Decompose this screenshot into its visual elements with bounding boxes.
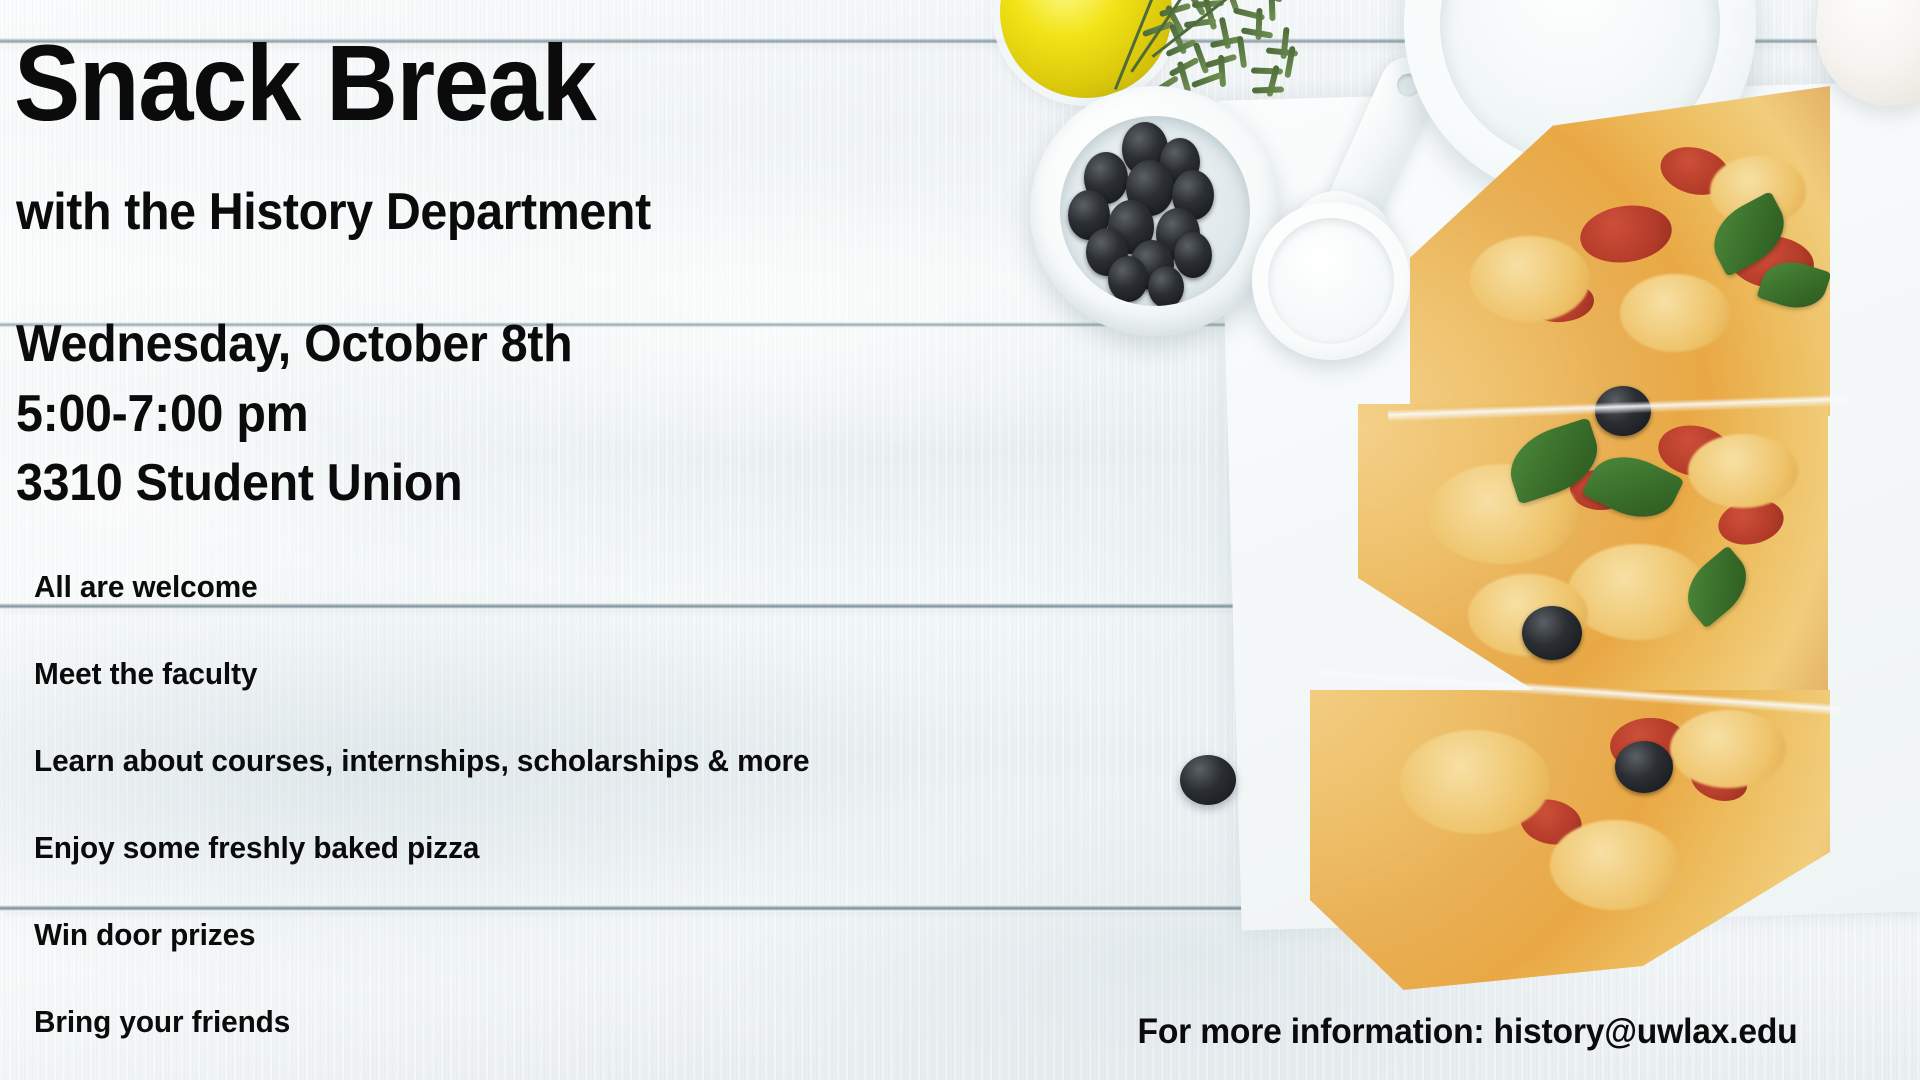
list-item: Meet the faculty [34, 654, 994, 741]
event-time: 5:00-7:00 pm [16, 380, 572, 450]
event-date: Wednesday, October 8th [16, 310, 572, 380]
contact-info: For more information: history@uwlax.edu [1138, 1012, 1798, 1052]
list-item: Win door prizes [34, 915, 994, 1002]
list-item: Enjoy some freshly baked pizza [34, 828, 994, 915]
flyer-text: Snack Break with the History Department … [0, 0, 1920, 1080]
subtitle: with the History Department [16, 182, 651, 242]
event-details: Wednesday, October 8th 5:00-7:00 pm 3310… [16, 310, 572, 519]
event-flyer: Snack Break with the History Department … [0, 0, 1920, 1080]
list-item: Learn about courses, internships, schola… [34, 741, 994, 828]
page-title: Snack Break [14, 28, 595, 138]
event-location: 3310 Student Union [16, 449, 572, 519]
list-item: All are welcome [34, 567, 994, 654]
highlight-list: All are welcome Meet the faculty Learn a… [34, 567, 1034, 1080]
list-item: Bring your friends [34, 1002, 994, 1080]
